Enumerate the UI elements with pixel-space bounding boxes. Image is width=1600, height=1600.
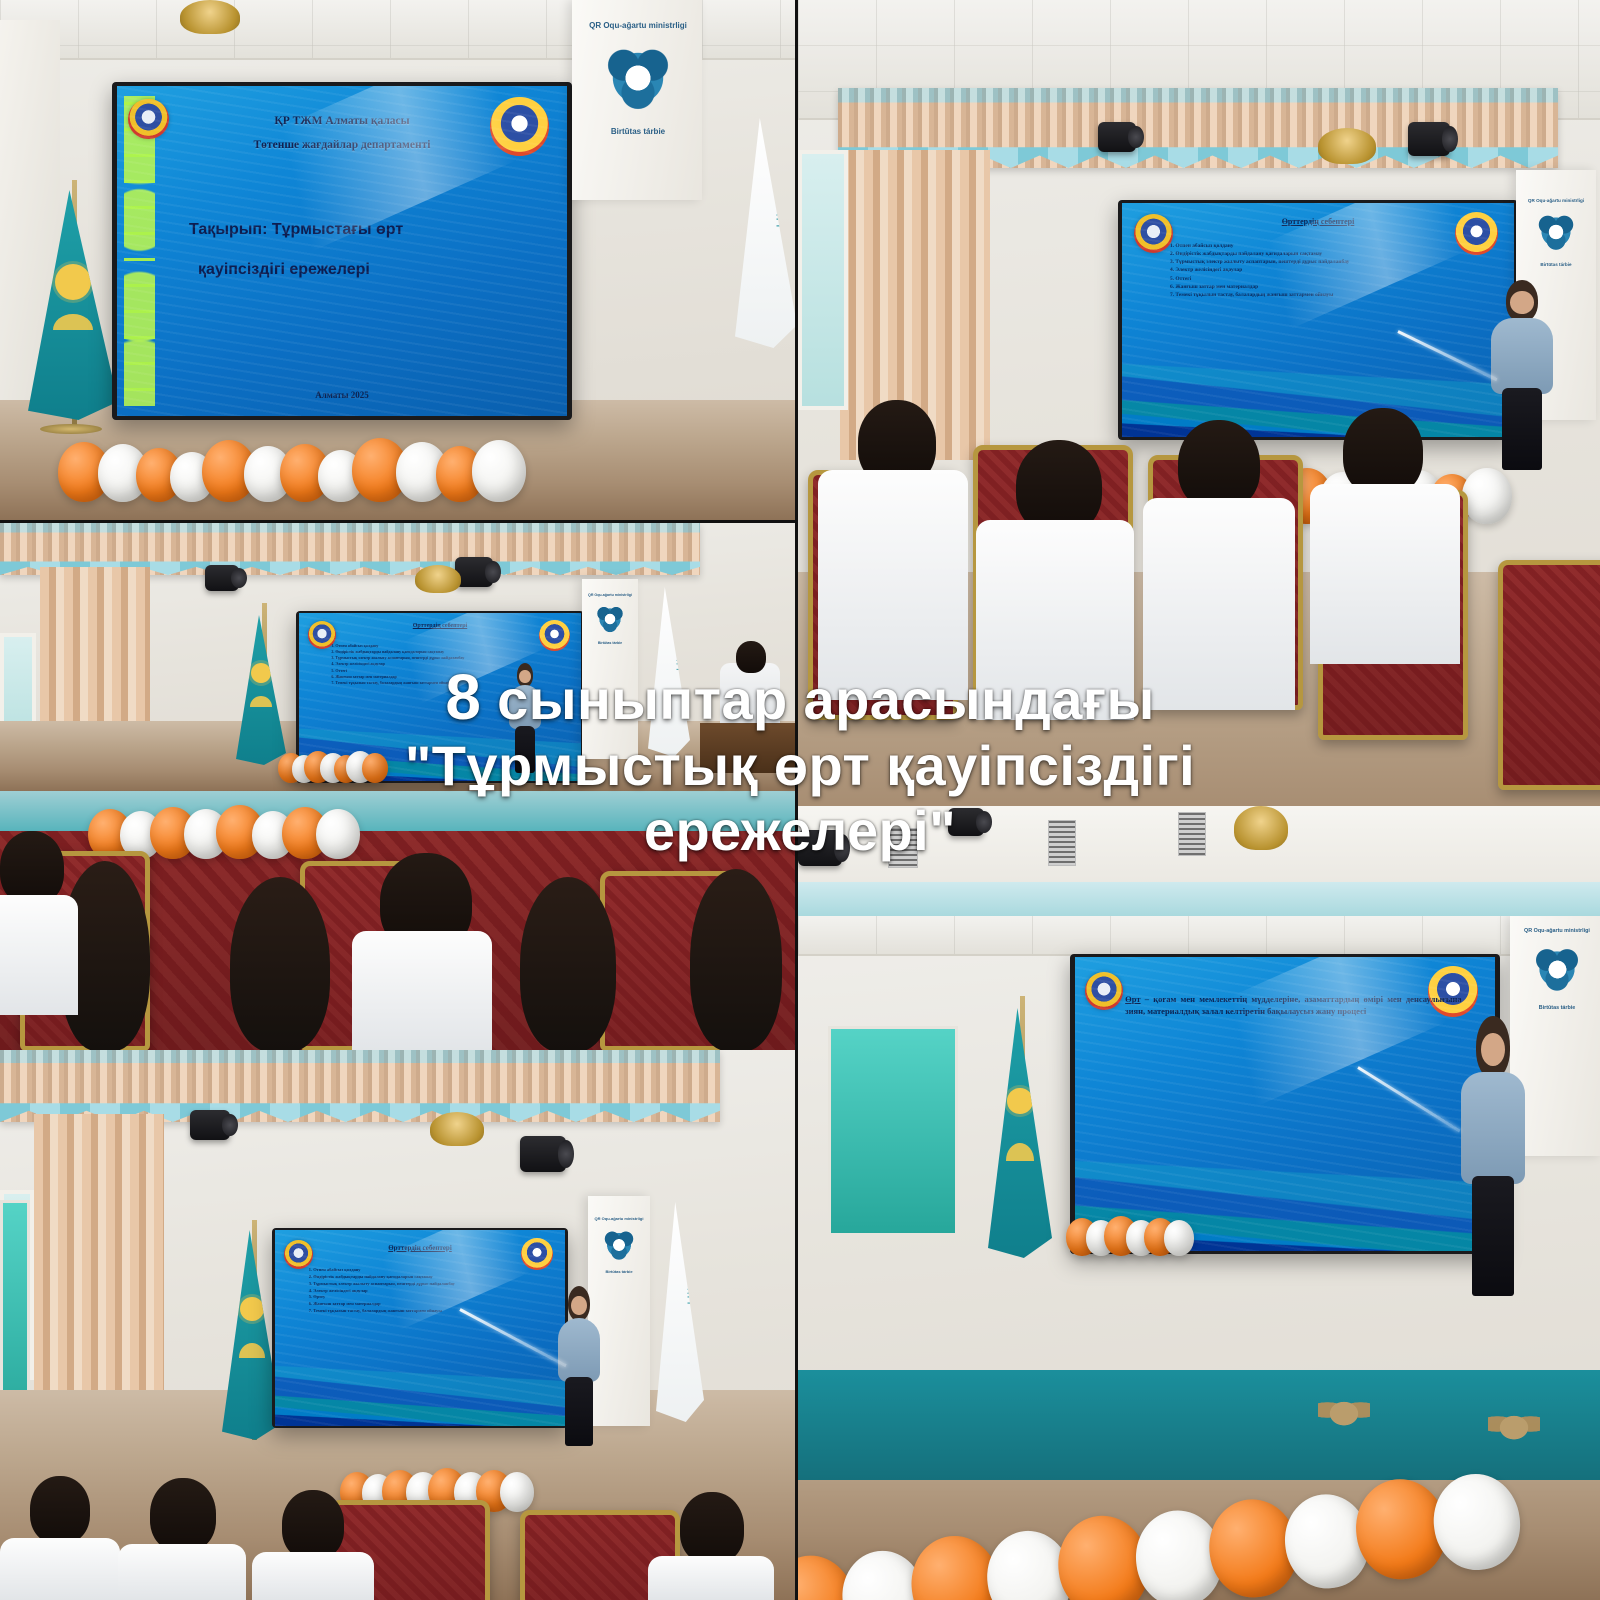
- audience-student-head: [1343, 408, 1423, 496]
- presentation-screen: Өрттердің себептері Отпен абайсыз қолдан…: [272, 1228, 568, 1428]
- audience-student-head: [690, 869, 782, 1050]
- ministry-logo-bottom-text: Birtūtas tárbie: [1524, 262, 1588, 267]
- stage-light-icon: [190, 1110, 230, 1140]
- audience-student-head: [230, 877, 330, 1050]
- ministry-logo: QR Oqu-ağartu ministrligi Birtūtas tárbi…: [592, 1218, 646, 1272]
- ceiling-sconce-icon: [415, 565, 461, 593]
- caption-line-1-rest: сыныптар арасындағы: [481, 668, 1154, 731]
- caption-line-2: "Тұрмыстық өрт қауіпсіздігі: [0, 734, 1600, 799]
- ministry-logo-swirl-icon: [593, 602, 628, 637]
- audience-student-head: [680, 1492, 744, 1564]
- audience-student-head: [150, 1478, 216, 1552]
- caption-line-1: 8 сыныптар арасындағы: [0, 660, 1600, 734]
- ministry-logo-bottom-text: Birtūtas tárbie: [586, 641, 634, 645]
- ministry-logo-swirl-icon: [598, 38, 679, 119]
- ceiling-sconce-icon: [180, 0, 240, 34]
- ministry-logo-top-text: QR Oqu-ağartu ministrligi: [582, 21, 694, 30]
- kazakh-ornament-icon: [1488, 1406, 1540, 1442]
- slide-surface: Өрт – қоғам мен мемлекеттің мүдделеріне,…: [1075, 957, 1496, 1250]
- presentation-screen: ҚР ТЖМ Алматы қаласы Төтенше жағдайлар д…: [112, 82, 572, 420]
- ceiling-sconce-icon: [1318, 128, 1376, 164]
- ministry-logo-bottom-text: Birtūtas tárbie: [1518, 1005, 1596, 1011]
- audience-student-head: [1178, 420, 1260, 510]
- ministry-logo-top-text: QR Oqu-ağartu ministrligi: [1524, 198, 1588, 203]
- audience-student-shirt: [648, 1556, 774, 1600]
- ministry-logo-top-text: QR Oqu-ağartu ministrligi: [1518, 928, 1596, 934]
- panel-presenter-definition-slide: Өрт – қоғам мен мемлекеттің мүдделеріне,…: [798, 916, 1600, 1600]
- overlay-caption: 8 сыныптар арасындағы "Тұрмыстық өрт қау…: [0, 660, 1600, 864]
- audience-student-head: [520, 877, 616, 1050]
- window-valance: [0, 1050, 720, 1122]
- photo-collage: ҚР ТЖМ Алматы қаласы Төтенше жағдайлар д…: [0, 0, 1600, 1600]
- caption-line-3: ережелері": [0, 799, 1600, 864]
- audience-student-shirt: [0, 895, 78, 1015]
- ministry-logo: QR Oqu-ağartu ministrligi Birtūtas tárbi…: [1524, 200, 1588, 264]
- caption-grade-number: 8: [445, 661, 481, 733]
- panel-title-slide-stage: ҚР ТЖМ Алматы қаласы Төтенше жағдайлар д…: [0, 0, 795, 520]
- presentation-screen: Өрттердің себептері Отпен абайсыз қолдан…: [1118, 200, 1518, 440]
- balloon-garland: [70, 438, 526, 502]
- audience-student-head: [30, 1476, 90, 1544]
- ceiling-sconce-icon: [430, 1112, 484, 1146]
- ministry-logo: QR Oqu-ağartu ministrligi Birtūtas tárbi…: [586, 595, 634, 643]
- stage-skirt: [798, 1370, 1600, 1480]
- slide-surface: Өрттердің себептері Отпен абайсыз қолдан…: [275, 1230, 565, 1426]
- window: [798, 150, 848, 410]
- ministry-logo-swirl-icon: [600, 1226, 639, 1265]
- audience-student-head: [282, 1490, 344, 1560]
- hall-door: [828, 1026, 958, 1236]
- ministry-logo-swirl-icon: [1533, 209, 1579, 255]
- stage-light-icon: [1408, 122, 1450, 156]
- balloon-garland: [1078, 1216, 1194, 1256]
- ministry-logo-swirl-icon: [1529, 941, 1585, 997]
- presenter: [1488, 280, 1556, 470]
- kazakh-ornament-icon: [1318, 1392, 1370, 1428]
- ministry-logo-bottom-text: Birtūtas tárbie: [592, 1269, 646, 1274]
- ministry-logo-top-text: QR Oqu-ağartu ministrligi: [592, 1216, 646, 1221]
- ministry-logo: QR Oqu-ağartu ministrligi Birtūtas tárbi…: [582, 22, 694, 134]
- ministry-logo-top-text: QR Oqu-ağartu ministrligi: [586, 593, 634, 597]
- presenter: [1458, 1016, 1528, 1296]
- audience-student-shirt: [252, 1552, 374, 1600]
- panel-presenter-pointing-causes-slide: Өрттердің себептері Отпен абайсыз қолдан…: [0, 1050, 795, 1600]
- audience-student-shirt: [1310, 484, 1460, 664]
- audience-student-shirt: [118, 1544, 246, 1600]
- wall-trim: [798, 882, 1600, 916]
- audience-student-shirt: [0, 1538, 120, 1600]
- presentation-screen: Өрт – қоғам мен мемлекеттің мүдделеріне,…: [1070, 954, 1500, 1254]
- ministry-logo-bottom-text: Birtūtas tárbie: [582, 127, 694, 136]
- stage-light-icon: [1098, 122, 1136, 152]
- flag-base: [40, 424, 102, 434]
- slide-surface: Өрттердің себептері Отпен абайсыз қолдан…: [1122, 203, 1513, 438]
- stage-light-icon: [520, 1136, 566, 1172]
- slide-surface: ҚР ТЖМ Алматы қаласы Төтенше жағдайлар д…: [117, 86, 567, 417]
- audience-student-shirt: [352, 931, 492, 1050]
- stage-light-icon: [205, 565, 239, 591]
- ministry-logo: QR Oqu-ağartu ministrligi Birtūtas tárbi…: [1518, 930, 1596, 1008]
